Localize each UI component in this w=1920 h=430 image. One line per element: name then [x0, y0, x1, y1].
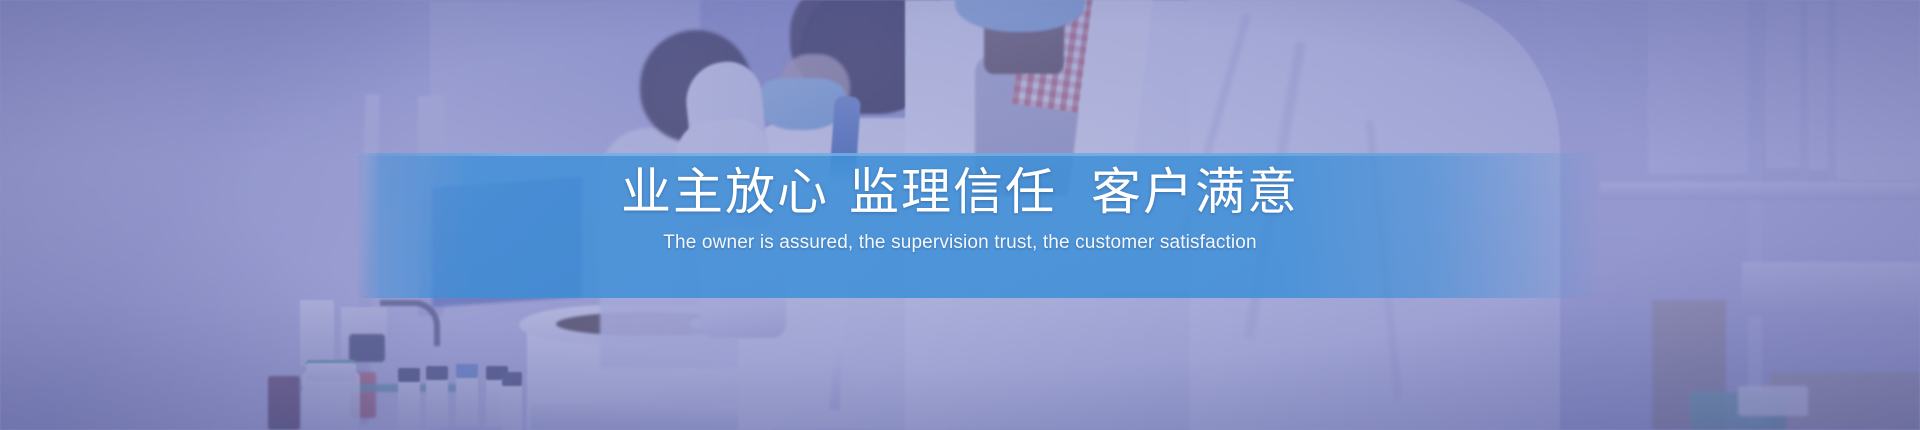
blue-overlay-band — [0, 153, 1920, 298]
hero-banner: 业主放心监理信任客户满意 The owner is assured, the s… — [0, 0, 1920, 430]
band-top-highlight — [0, 153, 1920, 156]
